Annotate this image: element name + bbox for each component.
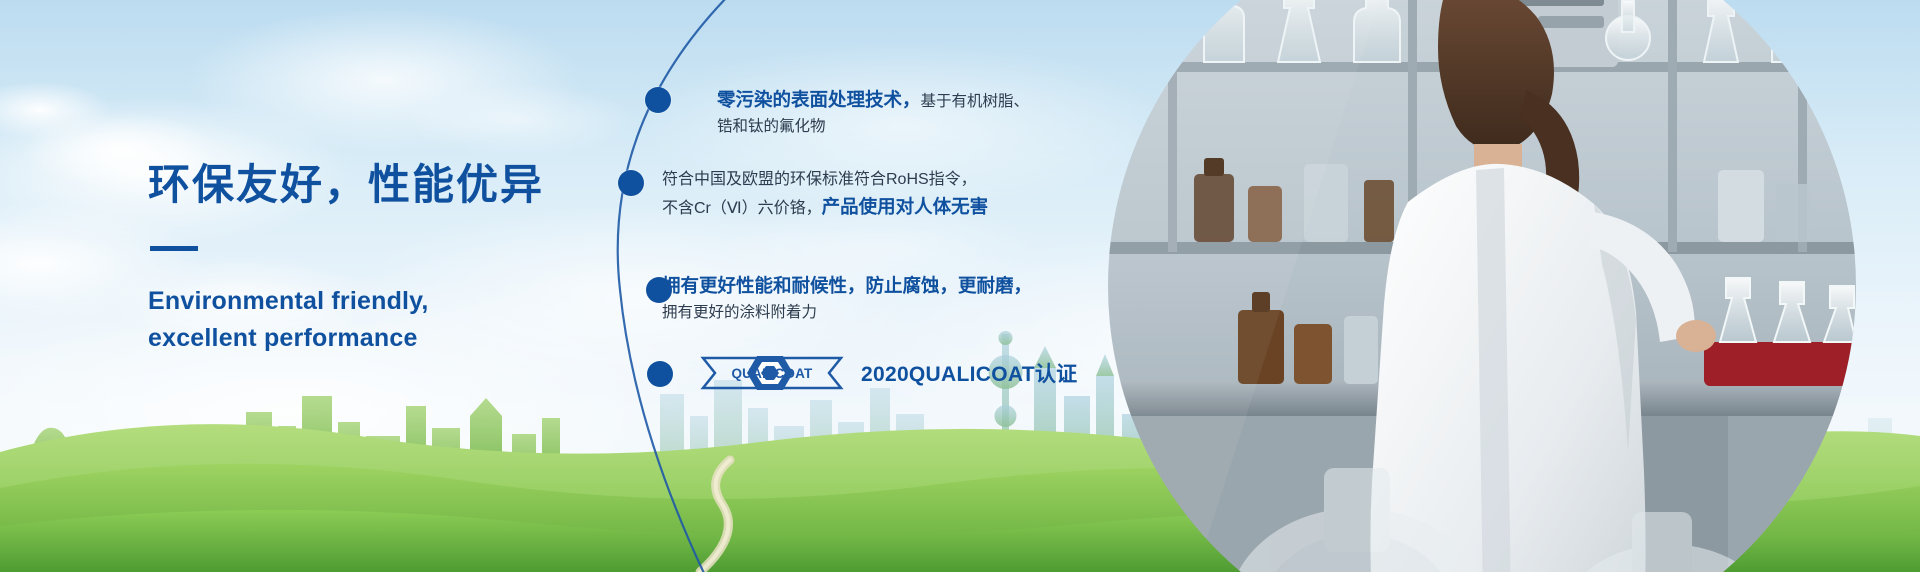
qualicoat-logo-text: QUALICOAT (731, 366, 813, 381)
feature-text-normal: 拥有更好的涂料附着力 (662, 304, 817, 321)
feature-text-normal: 不含Cr（Ⅵ）六价铬， (662, 200, 822, 217)
feature-text-strong: 产品使用对人体无害 (822, 196, 989, 217)
feature-text-normal: 基于有机树脂、 (921, 93, 1030, 110)
feature-line: 零污染的表面处理技术，基于有机树脂、 (717, 86, 1029, 115)
headline-english-line-1: Environmental friendly, (148, 283, 578, 319)
laboratory-photo-image (1108, 0, 1856, 572)
headline-block: 环保友好，性能优异 Environmental friendly, excell… (148, 160, 578, 356)
feature-item-performance-durability: 拥有更好性能和耐候性，防止腐蚀，更耐磨， 拥有更好的涂料附着力 (662, 272, 1032, 326)
feature-text-normal: 符合中国及欧盟的环保标准符合RoHS指令， (662, 171, 977, 188)
headline-english-line-2: excellent performance (148, 320, 578, 356)
feature-item-rohs-compliance: 符合中国及欧盟的环保标准符合RoHS指令， 不含Cr（Ⅵ）六价铬，产品使用对人体… (662, 168, 988, 222)
headline-english: Environmental friendly, excellent perfor… (148, 283, 578, 356)
feature-text-normal: 锆和钛的氟化物 (717, 118, 826, 135)
headline-divider (150, 246, 198, 251)
feature-text-strong: 零污染的表面处理技术， (717, 89, 921, 110)
feature-line: 不含Cr（Ⅵ）六价铬，产品使用对人体无害 (662, 193, 988, 222)
certification-block: QUALICOAT 2020QUALICOAT认证 (697, 352, 1077, 394)
certification-node (647, 361, 673, 387)
feature-line: 符合中国及欧盟的环保标准符合RoHS指令， (662, 168, 988, 193)
headline-chinese: 环保友好，性能优异 (148, 160, 578, 210)
qualicoat-logo-icon: QUALICOAT (697, 352, 847, 394)
feature-node-1 (645, 87, 671, 113)
feature-line: 拥有更好性能和耐候性，防止腐蚀，更耐磨， (662, 272, 1032, 301)
feature-item-zero-pollution: 零污染的表面处理技术，基于有机树脂、 锆和钛的氟化物 (717, 86, 1029, 140)
feature-node-2 (618, 170, 644, 196)
certification-label: 2020QUALICOAT认证 (861, 358, 1077, 388)
feature-line: 拥有更好的涂料附着力 (662, 301, 1032, 326)
laboratory-photo (1108, 0, 1856, 572)
feature-line: 锆和钛的氟化物 (717, 115, 1029, 140)
feature-text-strong: 拥有更好性能和耐候性，防止腐蚀，更耐磨， (662, 275, 1032, 296)
promo-banner: 环保友好，性能优异 Environmental friendly, excell… (0, 0, 1920, 572)
